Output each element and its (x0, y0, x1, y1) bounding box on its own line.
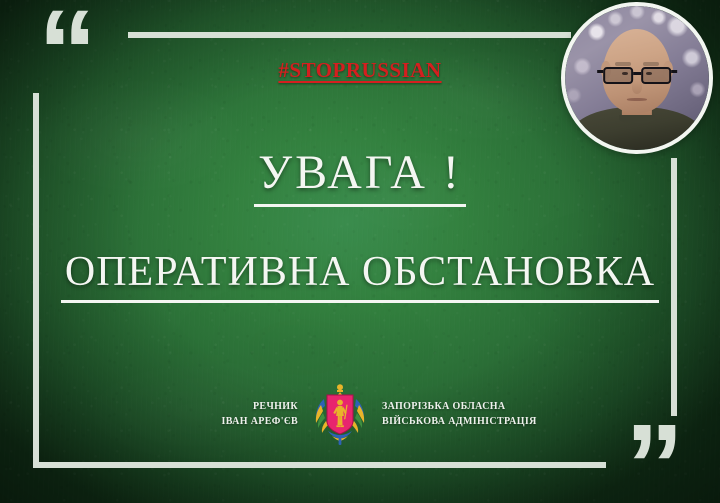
portrait-image (565, 6, 709, 150)
spokesperson-role-label: РЕЧНИК (178, 399, 298, 415)
poster-canvas: “ ” #STOPRUSSIAN УВАГА ! ОПЕРАТИВНА ОБСТ… (0, 0, 720, 503)
spokesperson-credit: РЕЧНИК ІВАН АРЕФ'ЄВ (178, 399, 298, 430)
organization-line-1: ЗАПОРІЗЬКА ОБЛАСНА (382, 399, 542, 415)
portrait-glasses-bridge (633, 72, 641, 74)
organization-line-2: ВІЙСЬКОВА АДМІНІСТРАЦІЯ (382, 414, 542, 430)
portrait-eyebrow-left (615, 62, 631, 66)
portrait-glasses-temple-left (597, 70, 603, 73)
headline-block: УВАГА ! ОПЕРАТИВНА ОБСТАНОВКА (0, 148, 720, 294)
spokesperson-portrait-avatar (561, 2, 713, 154)
portrait-glasses-temple-right (671, 70, 677, 73)
portrait-lens-right (641, 67, 671, 84)
footer-bar: РЕЧНИК ІВАН АРЕФ'ЄВ (0, 383, 720, 445)
frame-line-top (128, 32, 571, 38)
coat-of-arms-icon (312, 383, 368, 445)
portrait-lens-left (603, 67, 633, 84)
portrait-nose (632, 81, 642, 94)
headline-operational-situation: ОПЕРАТИВНА ОБСТАНОВКА (65, 250, 655, 294)
spokesperson-name-label: ІВАН АРЕФ'ЄВ (178, 414, 298, 430)
organization-credit: ЗАПОРІЗЬКА ОБЛАСНА ВІЙСЬКОВА АДМІНІСТРАЦ… (382, 399, 542, 430)
frame-line-bottom (33, 462, 606, 468)
portrait-mouth (627, 98, 647, 101)
portrait-eyebrow-right (643, 62, 659, 66)
headline-attention: УВАГА ! (258, 148, 462, 198)
